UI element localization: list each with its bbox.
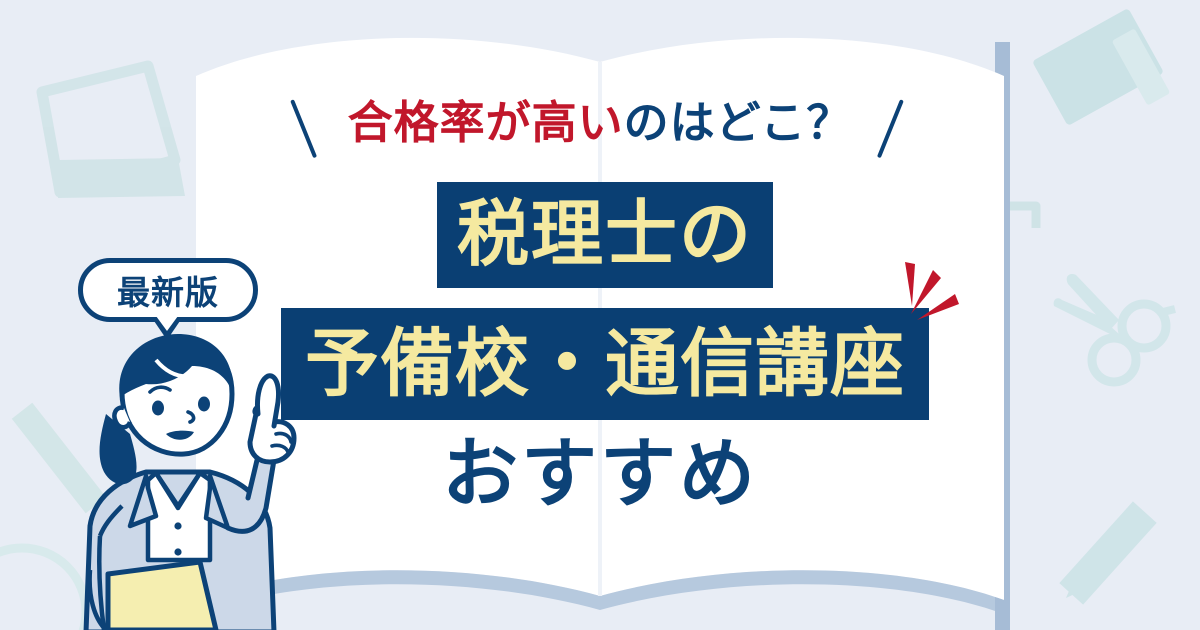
- headline-top-navy: のはどこ？: [624, 97, 853, 148]
- headline-top-line: 合格率が高いのはどこ？: [0, 100, 1200, 145]
- emphasis-burst-icon: [893, 258, 973, 338]
- badge-tail-inner: [156, 316, 178, 331]
- latest-edition-badge-label: 最新版: [117, 266, 219, 314]
- headline-band-1: 税理士の: [437, 182, 773, 288]
- woman-pointing-up-illustration: [60, 330, 340, 630]
- headline-top-red: 合格率が高い: [348, 97, 624, 148]
- headline-band-2-text: 予備校・通信講座: [305, 327, 905, 401]
- headline-band-1-text: 税理士の: [457, 199, 753, 271]
- latest-edition-badge: 最新版: [78, 258, 258, 322]
- headline-band-2: 予備校・通信講座: [281, 308, 929, 420]
- banner-root: 合格率が高いのはどこ？ 税理士の 予備校・通信講座 おすすめ 最新版: [0, 0, 1200, 630]
